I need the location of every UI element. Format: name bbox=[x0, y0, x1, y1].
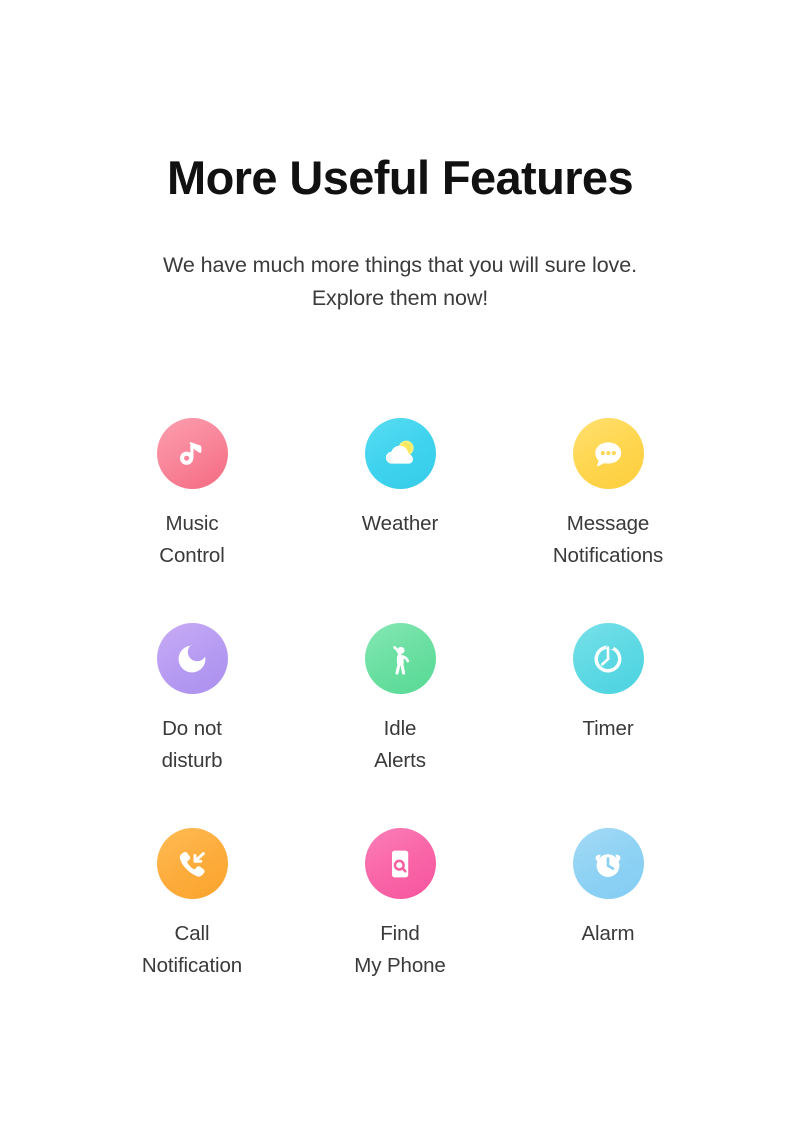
feature-item-music-control[interactable]: Music Control bbox=[88, 418, 296, 623]
feature-item-call-notification[interactable]: Call Notification bbox=[88, 828, 296, 1033]
feature-label: Music Control bbox=[159, 508, 224, 572]
feature-label: Call Notification bbox=[142, 918, 242, 982]
feature-label: Weather bbox=[362, 508, 438, 540]
feature-label: Timer bbox=[582, 713, 633, 745]
feature-label: Idle Alerts bbox=[374, 713, 426, 777]
stretching-person-icon[interactable] bbox=[365, 623, 436, 694]
cloud-sun-icon[interactable] bbox=[365, 418, 436, 489]
page-title: More Useful Features bbox=[0, 152, 800, 205]
feature-item-idle-alerts[interactable]: Idle Alerts bbox=[296, 623, 504, 828]
feature-item-weather[interactable]: Weather bbox=[296, 418, 504, 623]
feature-item-alarm[interactable]: Alarm bbox=[504, 828, 712, 1033]
page-header: More Useful Features We have much more t… bbox=[0, 152, 800, 316]
feature-label: Alarm bbox=[581, 918, 634, 950]
feature-grid: Music Control Weather bbox=[88, 418, 712, 1033]
feature-overview-page: More Useful Features We have much more t… bbox=[0, 0, 800, 1147]
feature-label: Message Notifications bbox=[553, 508, 663, 572]
page-subtitle: We have much more things that you will s… bbox=[0, 249, 800, 316]
feature-item-message-notifications[interactable]: Message Notifications bbox=[504, 418, 712, 623]
incoming-call-icon[interactable] bbox=[157, 828, 228, 899]
alarm-clock-icon[interactable] bbox=[573, 828, 644, 899]
feature-item-do-not-disturb[interactable]: Do not disturb bbox=[88, 623, 296, 828]
stopwatch-icon[interactable] bbox=[573, 623, 644, 694]
music-note-icon[interactable] bbox=[157, 418, 228, 489]
crescent-moon-icon[interactable] bbox=[157, 623, 228, 694]
chat-bubble-icon[interactable] bbox=[573, 418, 644, 489]
feature-label: Find My Phone bbox=[354, 918, 446, 982]
feature-item-find-my-phone[interactable]: Find My Phone bbox=[296, 828, 504, 1033]
feature-label: Do not disturb bbox=[162, 713, 223, 777]
feature-item-timer[interactable]: Timer bbox=[504, 623, 712, 828]
phone-search-icon[interactable] bbox=[365, 828, 436, 899]
